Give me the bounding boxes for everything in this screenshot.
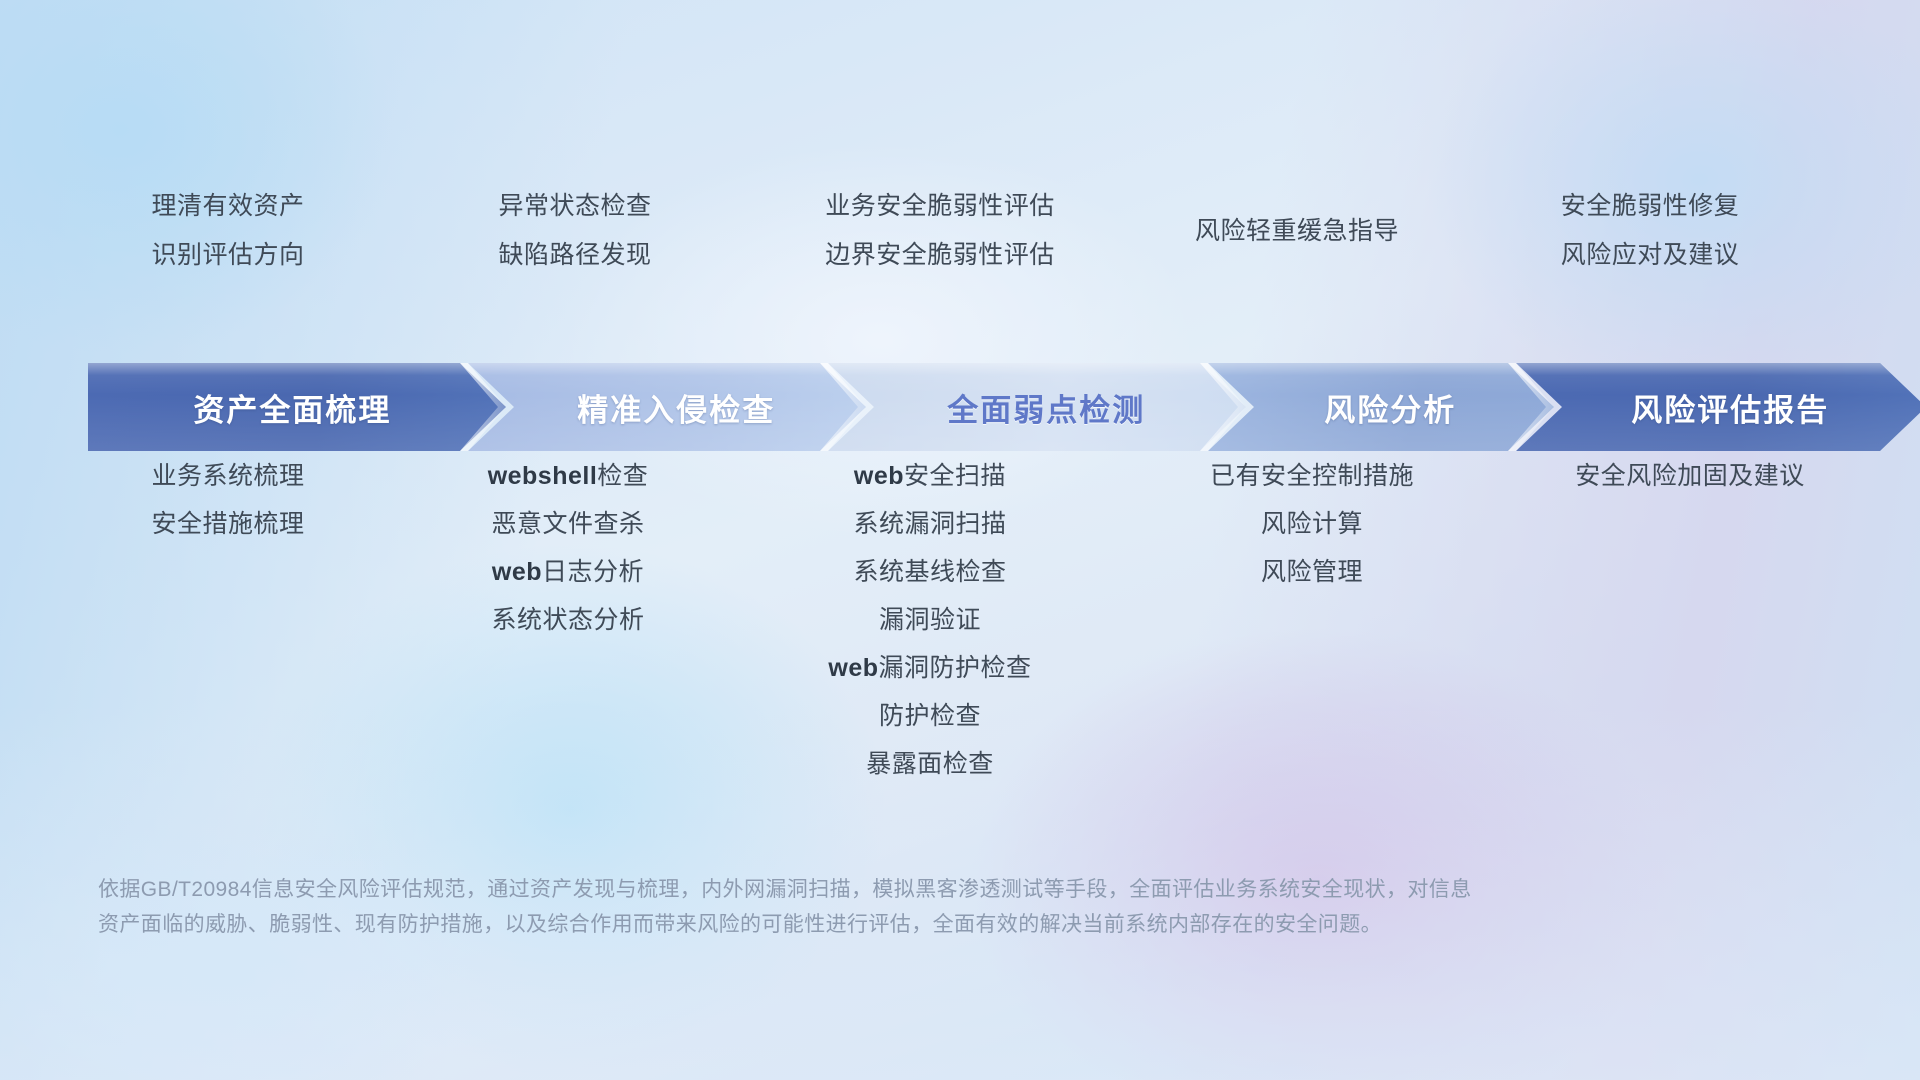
stage-label: 风险分析: [1324, 385, 1456, 430]
top-note: 业务安全脆弱性评估: [640, 182, 1240, 231]
stage-label: 全面弱点检测: [947, 385, 1145, 430]
top-note: 安全脆弱性修复: [1350, 182, 1920, 231]
stage-item: web漏洞防护检查: [630, 644, 1230, 692]
stage-item: 风险管理: [1012, 548, 1612, 596]
stage-label: 精准入侵检查: [577, 385, 775, 430]
top-note: 识别评估方向: [0, 231, 528, 280]
stage-label: 资产全面梳理: [193, 385, 391, 430]
stage-item: 暴露面检查: [630, 740, 1230, 788]
stage-item-list-5: 安全风险加固及建议: [1390, 452, 1920, 500]
stage-item: 风险计算: [1012, 500, 1612, 548]
top-note: 异常状态检查: [275, 182, 875, 231]
stage-label: 风险评估报告: [1631, 385, 1829, 430]
process-arrow-band: 资产全面梳理精准入侵检查全面弱点检测风险分析风险评估报告: [88, 363, 1848, 451]
stage-item-prefix: webshell: [488, 462, 598, 490]
caption-line-1: 依据GB/T20984信息安全风险评估规范，通过资产发现与梳理，内外网漏洞扫描，…: [98, 872, 1658, 907]
caption-line-2: 资产面临的威胁、脆弱性、现有防护措施，以及综合作用而带来风险的可能性进行评估，全…: [98, 907, 1658, 942]
stage-item: 漏洞验证: [630, 596, 1230, 644]
stage-item: 防护检查: [630, 692, 1230, 740]
process-diagram: 理清有效资产识别评估方向异常状态检查缺陷路径发现业务安全脆弱性评估边界安全脆弱性…: [0, 0, 1920, 1080]
process-stage-2[interactable]: 精准入侵检查: [468, 363, 866, 451]
process-stage-4[interactable]: 风险分析: [1208, 363, 1554, 451]
stage-top-notes-row: 理清有效资产识别评估方向异常状态检查缺陷路径发现业务安全脆弱性评估边界安全脆弱性…: [0, 0, 1920, 360]
stage-item-prefix: web: [828, 654, 878, 682]
top-note: 风险应对及建议: [1350, 231, 1920, 280]
top-note: 缺陷路径发现: [275, 231, 875, 280]
diagram-caption: 依据GB/T20984信息安全风险评估规范，通过资产发现与梳理，内外网漏洞扫描，…: [98, 872, 1658, 942]
top-note: 理清有效资产: [0, 182, 528, 231]
top-note: 边界安全脆弱性评估: [640, 231, 1240, 280]
process-stage-1[interactable]: 资产全面梳理: [88, 363, 506, 451]
process-stage-5[interactable]: 风险评估报告: [1516, 363, 1920, 451]
stage-item: 安全风险加固及建议: [1390, 452, 1920, 500]
stage-item-lists-row: 业务系统梳理安全措施梳理webshell检查恶意文件查杀web日志分析系统状态分…: [0, 452, 1920, 782]
stage-item-prefix: web: [854, 462, 904, 490]
process-stage-3[interactable]: 全面弱点检测: [828, 363, 1246, 451]
stage-item-prefix: web: [492, 558, 542, 586]
top-note: 风险轻重缓急指导: [997, 207, 1597, 256]
